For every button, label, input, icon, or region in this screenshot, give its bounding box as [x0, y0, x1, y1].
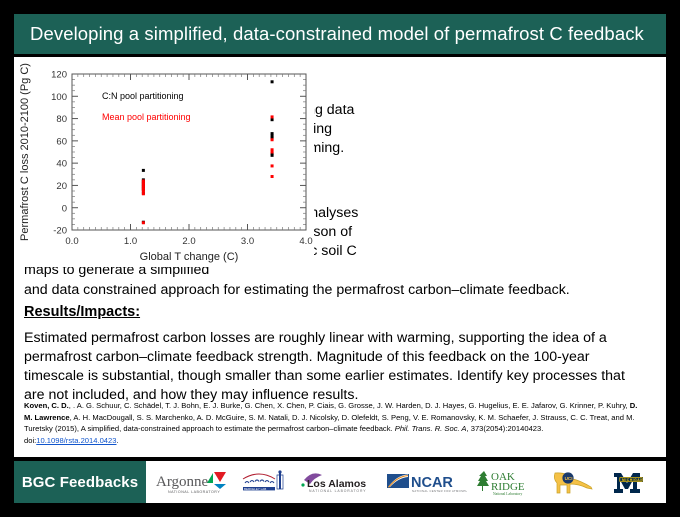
y-axis-tick-label: 100	[51, 92, 67, 103]
chart-canvas: -200204060801001200.01.02.03.04.0Global …	[14, 62, 314, 267]
data-point	[271, 164, 274, 167]
data-point	[271, 175, 274, 178]
svg-text:NATIONAL CENTER FOR ATMOSPHERI: NATIONAL CENTER FOR ATMOSPHERIC RESEARCH	[412, 489, 467, 493]
y-axis-tick-label: 120	[51, 70, 67, 81]
data-point	[142, 169, 145, 172]
results-body: Estimated permafrost carbon losses are r…	[24, 329, 640, 405]
slide-body-panel: Objective: Estimate the magnitude of the…	[14, 57, 666, 457]
results-heading: Results/Impacts:	[24, 303, 640, 321]
x-axis-tick-label: 2.0	[182, 236, 195, 247]
ncar-logo: NCAR NATIONAL CENTER FOR ATMOSPHERIC RES…	[385, 465, 467, 499]
data-point	[142, 221, 145, 224]
citation-block: Koven, C. D., . A. G. Schuur, C. Schädel…	[24, 400, 638, 446]
los-alamos-national-laboratory-logo: Los Alamos NATIONAL LABORATORY	[298, 465, 376, 499]
data-point	[271, 118, 274, 121]
page-title: Developing a simplified, data-constraine…	[14, 23, 644, 45]
results-section: Results/Impacts: Estimated permafrost ca…	[24, 303, 640, 406]
y-axis-tick-label: 0	[62, 203, 67, 214]
university-of-michigan-logo: MICHIGAN	[607, 465, 655, 499]
x-axis-tick-label: 4.0	[299, 236, 312, 247]
data-point	[142, 192, 145, 195]
slide-root: Developing a simplified, data-constraine…	[0, 0, 680, 517]
x-axis-tick-label: 1.0	[124, 236, 137, 247]
permafrost-c-loss-scatter-chart: -200204060801001200.01.02.03.04.0Global …	[14, 62, 314, 267]
data-point	[271, 138, 274, 141]
data-point	[271, 115, 274, 118]
x-axis-tick-label: 0.0	[65, 236, 78, 247]
legend-label-1: C:N pool partitioning	[102, 91, 184, 101]
svg-text:MICHIGAN: MICHIGAN	[622, 478, 643, 482]
y-axis-tick-label: 20	[56, 181, 67, 192]
approach-body-wide: and data constrained approach for estima…	[24, 281, 638, 300]
footer-logo-strip: Argonne NATIONAL LABORATORY	[146, 461, 666, 503]
x-axis-tick-label: 3.0	[241, 236, 254, 247]
legend-label-2: Mean pool partitioning	[102, 112, 191, 122]
chart-series-2	[142, 115, 274, 224]
chart-series-1	[142, 80, 274, 223]
data-point	[271, 80, 274, 83]
y-axis-tick-label: 40	[56, 159, 67, 170]
x-axis-label: Global T change (C)	[140, 251, 239, 263]
svg-text:BERKELEY LAB: BERKELEY LAB	[244, 487, 266, 491]
slide-title-bar: Developing a simplified, data-constraine…	[14, 14, 666, 54]
y-axis-tick-label: 60	[56, 136, 67, 147]
svg-text:Argonne: Argonne	[156, 474, 209, 490]
y-axis-label: Permafrost C loss 2010-2100 (Pg C)	[19, 63, 31, 241]
data-point	[271, 151, 274, 154]
citation-journal: Phil. Trans. R. Soc. A	[395, 424, 467, 433]
oak-ridge-national-laboratory-logo: OAK RIDGE National Laboratory	[476, 465, 538, 499]
data-point	[271, 154, 274, 157]
svg-text:NCAR: NCAR	[411, 475, 453, 491]
footer-brand-label: BGC Feedbacks	[14, 461, 146, 503]
svg-text:National Laboratory: National Laboratory	[493, 492, 522, 496]
uc-irvine-anteater-logo: UCI	[547, 465, 599, 499]
citation-doi-suffix: .	[116, 436, 118, 445]
svg-text:UCI: UCI	[564, 476, 572, 481]
citation-lead-author: Koven, C. D.	[24, 401, 69, 410]
y-axis-tick-label: -20	[53, 226, 67, 237]
argonne-national-laboratory-logo: Argonne NATIONAL LABORATORY	[156, 465, 230, 499]
citation-doi-link[interactable]: 10.1098/rsta.2014.0423	[36, 436, 116, 445]
approach-body-wide-wrap: and data constrained approach for estima…	[24, 281, 638, 300]
slide-footer: BGC Feedbacks Argonne NATIONAL LABORATOR…	[14, 461, 666, 503]
svg-text:NATIONAL LABORATORY: NATIONAL LABORATORY	[309, 489, 366, 493]
y-axis-tick-label: 80	[56, 114, 67, 125]
svg-text:NATIONAL LABORATORY: NATIONAL LABORATORY	[168, 490, 220, 494]
data-point	[142, 190, 145, 193]
citation-authors-part1: , . A. G. Schuur, C. Schädel, T. J. Bohn…	[69, 401, 630, 410]
berkeley-lab-logo: BERKELEY LAB	[239, 465, 289, 499]
